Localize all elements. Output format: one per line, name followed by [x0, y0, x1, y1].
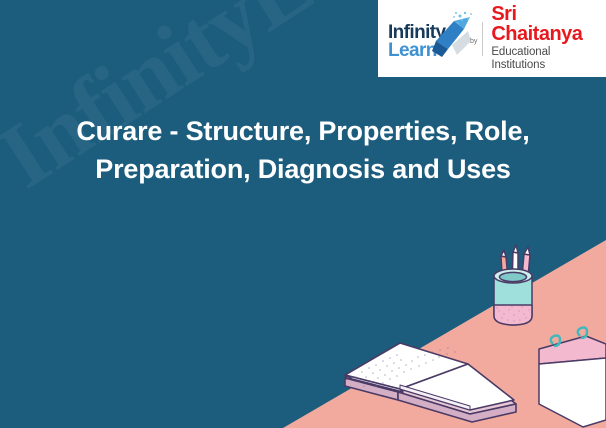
thumbnail-card: InfinityLearn.com [0, 0, 606, 428]
sri-chaitanya-logo[interactable]: Sri Chaitanya Educational Institutions [491, 4, 606, 73]
desk-calendar-icon [539, 328, 606, 428]
sri-chaitanya-title: Sri Chaitanya [491, 4, 606, 45]
pencil-holder-icon [494, 245, 532, 325]
logo-divider [482, 22, 483, 56]
sri-chaitanya-subtitle: Educational Institutions [491, 46, 606, 74]
infinity-learn-logo[interactable]: Infinity Learn [386, 13, 468, 65]
page-title-line-2: Preparation, Diagnosis and Uses [95, 154, 510, 184]
page-title: Curare - Structure, Properties, Role, Pr… [0, 112, 606, 189]
brand-logo-panel[interactable]: Infinity Learn by Sri Chaitanya Educatio… [378, 0, 606, 77]
infinity-learn-arrow-icon [430, 11, 474, 63]
page-title-line-1: Curare - Structure, Properties, Role, [76, 116, 529, 146]
